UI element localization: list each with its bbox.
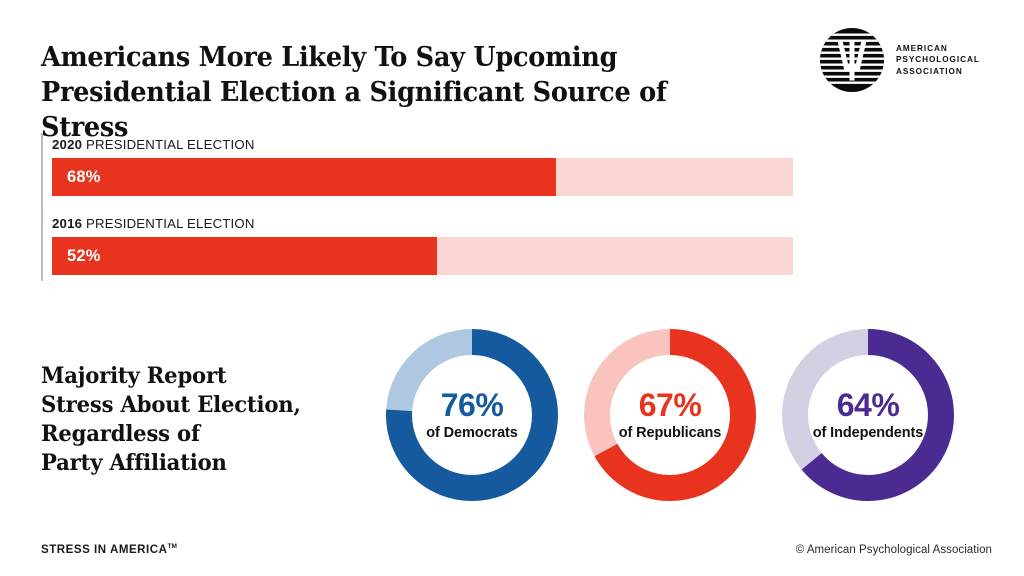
headline-line-1: Americans More Likely To Say Upcoming <box>41 41 617 73</box>
bar-label-2016-rest: PRESIDENTIAL ELECTION <box>82 216 254 231</box>
bar-label-2016-year: 2016 <box>52 216 82 231</box>
bar-label-2020: 2020 PRESIDENTIAL ELECTION <box>52 137 793 152</box>
donut-independents: 64% of Independents <box>778 325 958 505</box>
subhead-line-4: Party Affiliation <box>41 449 342 478</box>
bar-label-2016: 2016 PRESIDENTIAL ELECTION <box>52 216 793 231</box>
apa-logo-line-2: PSYCHOLOGICAL <box>896 54 980 65</box>
bar-fill-2020: 68% <box>52 158 556 196</box>
bar-row-2016: 2016 PRESIDENTIAL ELECTION 52% <box>52 216 793 275</box>
donut-democrats: 76% of Democrats <box>382 325 562 505</box>
bar-fill-2016: 52% <box>52 237 437 275</box>
footer-brand-text: STRESS IN AMERICA <box>41 544 168 556</box>
footer-copyright: © American Psychological Association <box>796 544 992 556</box>
apa-psi-logo-icon <box>818 26 886 94</box>
footer-brand: STRESS IN AMERICATM <box>41 543 177 556</box>
donut-democrats-ring <box>382 325 562 505</box>
subhead-line-2: Stress About Election, <box>41 391 342 420</box>
trademark-symbol: TM <box>168 543 177 550</box>
donut-republicans-ring <box>580 325 760 505</box>
apa-logo-line-3: ASSOCIATION <box>896 66 980 77</box>
donut-republicans: 67% of Republicans <box>580 325 760 505</box>
bar-track-2020: 68% <box>52 158 793 196</box>
subhead-line-3: Regardless of <box>41 420 342 449</box>
bar-label-2020-year: 2020 <box>52 137 82 152</box>
page-title: Americans More Likely To Say Upcoming Pr… <box>41 40 729 145</box>
apa-logo: AMERICAN PSYCHOLOGICAL ASSOCIATION <box>818 25 993 95</box>
bar-chart-axis-rule <box>41 133 43 281</box>
infographic-canvas: Americans More Likely To Say Upcoming Pr… <box>0 0 1024 576</box>
donut-chart-group: 76% of Democrats 67% of Republicans 64% … <box>380 325 960 510</box>
bar-label-2020-rest: PRESIDENTIAL ELECTION <box>82 137 254 152</box>
section-subtitle: Majority Report Stress About Election, R… <box>41 362 342 478</box>
bar-row-2020: 2020 PRESIDENTIAL ELECTION 68% <box>52 137 793 196</box>
subhead-line-1: Majority Report <box>41 362 342 391</box>
bar-chart: 2020 PRESIDENTIAL ELECTION 68% 2016 PRES… <box>41 133 786 281</box>
donut-independents-ring <box>778 325 958 505</box>
bar-track-2016: 52% <box>52 237 793 275</box>
bar-value-2016: 52% <box>52 247 101 266</box>
apa-logo-text: AMERICAN PSYCHOLOGICAL ASSOCIATION <box>896 43 980 77</box>
apa-logo-line-1: AMERICAN <box>896 43 980 54</box>
bar-value-2020: 68% <box>52 168 101 187</box>
